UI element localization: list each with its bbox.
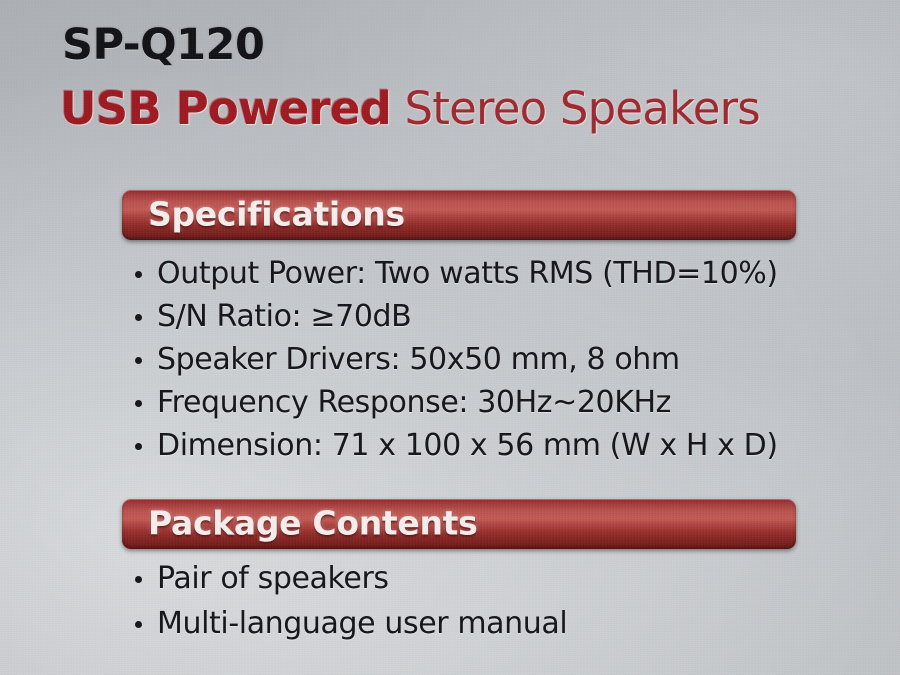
list-item: Speaker Drivers: 50x50 mm, 8 ohm (133, 338, 778, 381)
specifications-heading: Specifications (148, 195, 405, 234)
title-usb-powered: USB Powered (60, 82, 391, 135)
specifications-list: Output Power: Two watts RMS (THD=10%) S/… (133, 252, 778, 467)
package-contents-header-bar: Package Contents (122, 499, 796, 549)
list-item: Dimension: 71 x 100 x 56 mm (W x H x D) (133, 424, 778, 467)
product-packaging-panel: SP-Q120 USB Powered Stereo Speakers Spec… (0, 0, 900, 675)
model-number: SP-Q120 (62, 20, 264, 70)
list-item: Pair of speakers (133, 556, 567, 601)
title-stereo-speakers (391, 82, 405, 135)
list-item: Frequency Response: 30Hz~20KHz (133, 381, 778, 424)
package-contents-heading: Package Contents (148, 504, 478, 543)
title-stereo-speakers-text: Stereo Speakers (405, 82, 760, 135)
specifications-header-bar: Specifications (122, 190, 796, 240)
package-contents-list: Pair of speakers Multi-language user man… (133, 556, 567, 646)
list-item: Output Power: Two watts RMS (THD=10%) (133, 252, 778, 295)
list-item: S/N Ratio: ≥70dB (133, 295, 778, 338)
page-title: USB Powered Stereo Speakers (60, 85, 760, 132)
list-item: Multi-language user manual (133, 601, 567, 646)
